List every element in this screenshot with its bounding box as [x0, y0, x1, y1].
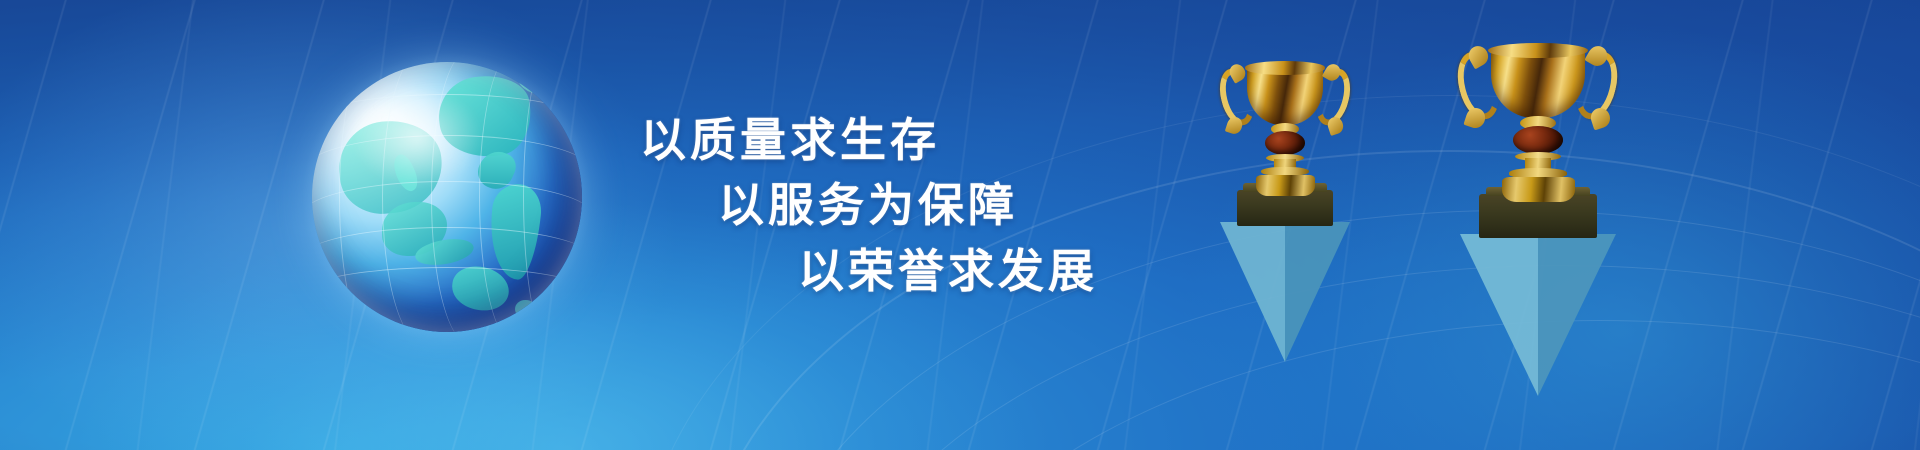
pyramid-face-left — [1220, 222, 1285, 362]
trophy-rim — [1245, 61, 1325, 74]
globe-sphere — [312, 62, 582, 332]
trophy-icon — [1465, 46, 1611, 202]
trophy-foot-lower — [1256, 175, 1315, 196]
pyramid-face-right — [1538, 234, 1616, 396]
slogan-line-3: 以荣誉求发展 — [798, 239, 1260, 304]
company-slogan-banner: 以质量求生存 以服务为保障 以荣誉求发展 — [0, 0, 1920, 450]
pyramid-face-right — [1285, 222, 1350, 362]
slogan-line-2: 以服务为保障 — [718, 173, 1260, 238]
slogan-block: 以质量求生存 以服务为保障 以荣誉求发展 — [640, 108, 1260, 304]
trophy-foot-lower — [1502, 177, 1575, 202]
trophy-ball — [1513, 126, 1563, 154]
trophy-ball — [1265, 131, 1305, 155]
slogan-line-1: 以质量求生存 — [640, 108, 1260, 173]
globe-icon — [312, 62, 582, 332]
globe-rim-shading — [312, 62, 582, 332]
pyramid-face-left — [1460, 234, 1538, 396]
trophy-icon — [1226, 64, 1344, 196]
